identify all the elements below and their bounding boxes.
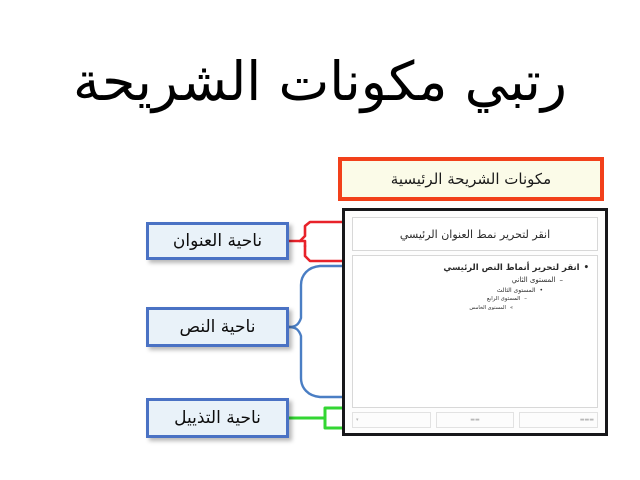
bullet-marker-icon: • xyxy=(539,286,543,296)
slide-body-placeholder[interactable]: •انقر لتحرير أنماط النص الرئيسي –المستوى… xyxy=(352,255,598,408)
slide-master-preview[interactable]: انقر لتحرير نمط العنوان الرئيسي •انقر لت… xyxy=(342,208,608,436)
slide-footer-row: ▬▬▬ ▬▬ ▾ xyxy=(352,412,598,428)
body-bullet-level-5: »المستوى الخامس xyxy=(361,304,589,313)
green-bracket-connector xyxy=(289,408,342,428)
date-placeholder[interactable]: ▬▬▬ xyxy=(519,412,598,428)
slide-number-placeholder[interactable]: ▾ xyxy=(352,412,431,428)
body-bullet-level-4-text: المستوى الرابع xyxy=(487,296,520,302)
slide-canvas: رتبي مكونات الشريحة مكونات الشريحة الرئي… xyxy=(0,0,640,480)
bullet-marker-icon: – xyxy=(560,275,564,286)
slide-master-inner: انقر لتحرير نمط العنوان الرئيسي •انقر لت… xyxy=(345,211,605,433)
label-title-area-text: ناحية العنوان xyxy=(173,231,262,251)
body-bullet-level-2: –المستوى الثاني xyxy=(361,275,589,286)
label-footer-area-text: ناحية التذييل xyxy=(174,408,261,428)
slide-number-placeholder-mark: ▾ xyxy=(356,417,359,423)
label-footer-area[interactable]: ناحية التذييل xyxy=(146,398,289,438)
main-caption-text: مكونات الشريحة الرئيسية xyxy=(391,170,551,188)
body-bullet-level-5-text: المستوى الخامس xyxy=(469,305,506,311)
label-title-area[interactable]: ناحية العنوان xyxy=(146,222,289,260)
body-bullet-level-3-text: المستوى الثالث xyxy=(497,287,536,294)
body-bullet-level-3: •المستوى الثالث xyxy=(361,286,589,296)
bullet-marker-icon: » xyxy=(510,304,513,313)
footer-placeholder-mark: ▬▬ xyxy=(470,417,479,423)
label-text-area-text: ناحية النص xyxy=(180,317,256,337)
slide-title-placeholder-text: انقر لتحرير نمط العنوان الرئيسي xyxy=(400,228,550,241)
red-bracket-connector xyxy=(289,222,342,261)
body-bullet-level-4: –المستوى الرابع xyxy=(361,295,589,304)
body-bullet-level-1-text: انقر لتحرير أنماط النص الرئيسي xyxy=(443,263,579,273)
page-title: رتبي مكونات الشريحة xyxy=(0,48,640,116)
label-text-area[interactable]: ناحية النص xyxy=(146,307,289,347)
main-caption-box: مكونات الشريحة الرئيسية xyxy=(338,157,604,201)
bullet-marker-icon: – xyxy=(524,295,527,304)
footer-placeholder[interactable]: ▬▬ xyxy=(436,412,515,428)
blue-brace-connector xyxy=(289,266,342,397)
slide-title-placeholder[interactable]: انقر لتحرير نمط العنوان الرئيسي xyxy=(352,217,598,251)
body-bullet-level-1: •انقر لتحرير أنماط النص الرئيسي xyxy=(361,262,589,275)
body-bullet-level-2-text: المستوى الثاني xyxy=(512,276,556,284)
date-placeholder-mark: ▬▬▬ xyxy=(580,417,594,423)
bullet-marker-icon: • xyxy=(584,262,589,275)
